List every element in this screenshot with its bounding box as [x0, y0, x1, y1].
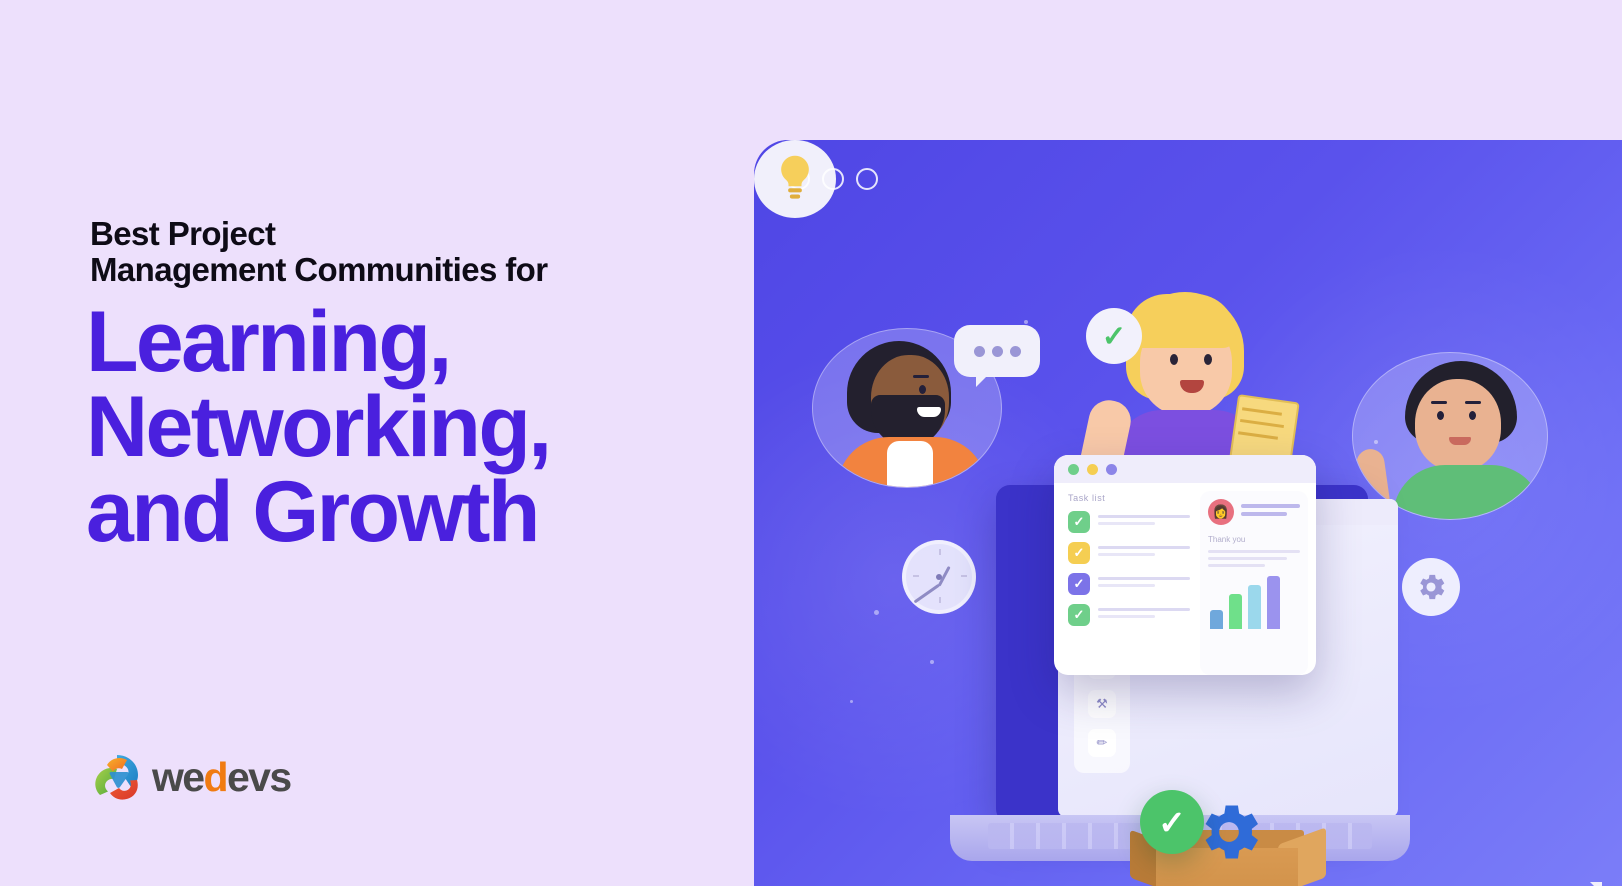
gear-icon: [1192, 795, 1266, 869]
hair-front: [1126, 294, 1236, 348]
check-badge-icon: ✓: [1140, 790, 1204, 854]
chat-dot-icon: [992, 346, 1003, 357]
task-text-lines: [1098, 608, 1190, 622]
bar-chart: [1208, 573, 1300, 629]
task-row[interactable]: ✓: [1068, 511, 1190, 533]
checkbox-checked-icon[interactable]: ✓: [1068, 511, 1090, 533]
assignee-name-lines: [1241, 504, 1300, 520]
window-dot-2-icon[interactable]: [822, 168, 844, 190]
banner-root: Best Project Management Communities for …: [0, 0, 1622, 886]
logo-word-part-1: we: [152, 757, 204, 798]
chat-dot-icon: [974, 346, 985, 357]
tools-icon: ⚒: [1088, 690, 1116, 718]
logo-word-part-3: evs: [227, 757, 291, 798]
task-list-title: Task list: [1068, 493, 1190, 503]
task-card-body: Task list ✓ ✓ ✓ ✓: [1054, 483, 1316, 675]
checkbox-checked-icon[interactable]: ✓: [1068, 542, 1090, 564]
wedevs-loop-mark: [92, 752, 142, 802]
lightbulb-icon: [774, 154, 816, 202]
check-badge-small-icon: ✓: [1086, 308, 1142, 364]
window-dot-3-icon[interactable]: [856, 168, 878, 190]
task-card-titlebar: [1054, 455, 1316, 483]
task-detail-panel: 👩 Thank you: [1200, 491, 1308, 675]
shirt: [887, 441, 933, 488]
chat-bubble-icon: [954, 325, 1040, 377]
chart-bar: [1229, 594, 1242, 629]
gear-glyph: [1414, 570, 1448, 604]
task-row[interactable]: ✓: [1068, 542, 1190, 564]
panel-subtitle: Thank you: [1208, 535, 1300, 544]
task-row[interactable]: ✓: [1068, 604, 1190, 626]
eyebrow-heading: Best Project Management Communities for: [90, 216, 710, 287]
chart-bar: [1267, 576, 1280, 629]
card-dot-yellow-icon[interactable]: [1087, 464, 1098, 475]
brush-icon: ✏: [1088, 729, 1116, 757]
checkbox-checked-icon[interactable]: ✓: [1068, 604, 1090, 626]
task-row[interactable]: ✓: [1068, 573, 1190, 595]
task-list-column: Task list ✓ ✓ ✓ ✓: [1054, 483, 1200, 675]
task-text-lines: [1098, 515, 1190, 529]
chart-bar: [1210, 610, 1223, 629]
task-text-lines: [1098, 577, 1190, 591]
checkbox-checked-icon[interactable]: ✓: [1068, 573, 1090, 595]
card-dot-purple-icon[interactable]: [1106, 464, 1117, 475]
sparkle-icon: [930, 660, 934, 664]
chart-bar: [1248, 585, 1261, 629]
task-text-lines: [1098, 546, 1190, 560]
sparkle-icon: [874, 610, 879, 615]
task-card[interactable]: Task list ✓ ✓ ✓ ✓: [1054, 455, 1316, 675]
gear-icon: [1402, 558, 1460, 616]
card-dot-green-icon[interactable]: [1068, 464, 1079, 475]
illustration-panel: 🔧 ⚒ ✎ ⚒ ✏: [754, 140, 1622, 886]
logo-word-part-2: d: [204, 757, 227, 798]
wedevs-wordmark: we d evs: [152, 757, 291, 798]
page-title: Learning, Networking, and Growth: [86, 300, 726, 555]
assignee-row: 👩: [1208, 499, 1300, 525]
sparkle-icon: [850, 700, 853, 703]
sparkle-icon: [1024, 320, 1028, 324]
wedevs-logo[interactable]: we d evs: [92, 752, 291, 802]
avatar: 👩: [1208, 499, 1234, 525]
text-column: Best Project Management Communities for …: [90, 0, 730, 886]
chat-dot-icon: [1010, 346, 1021, 357]
